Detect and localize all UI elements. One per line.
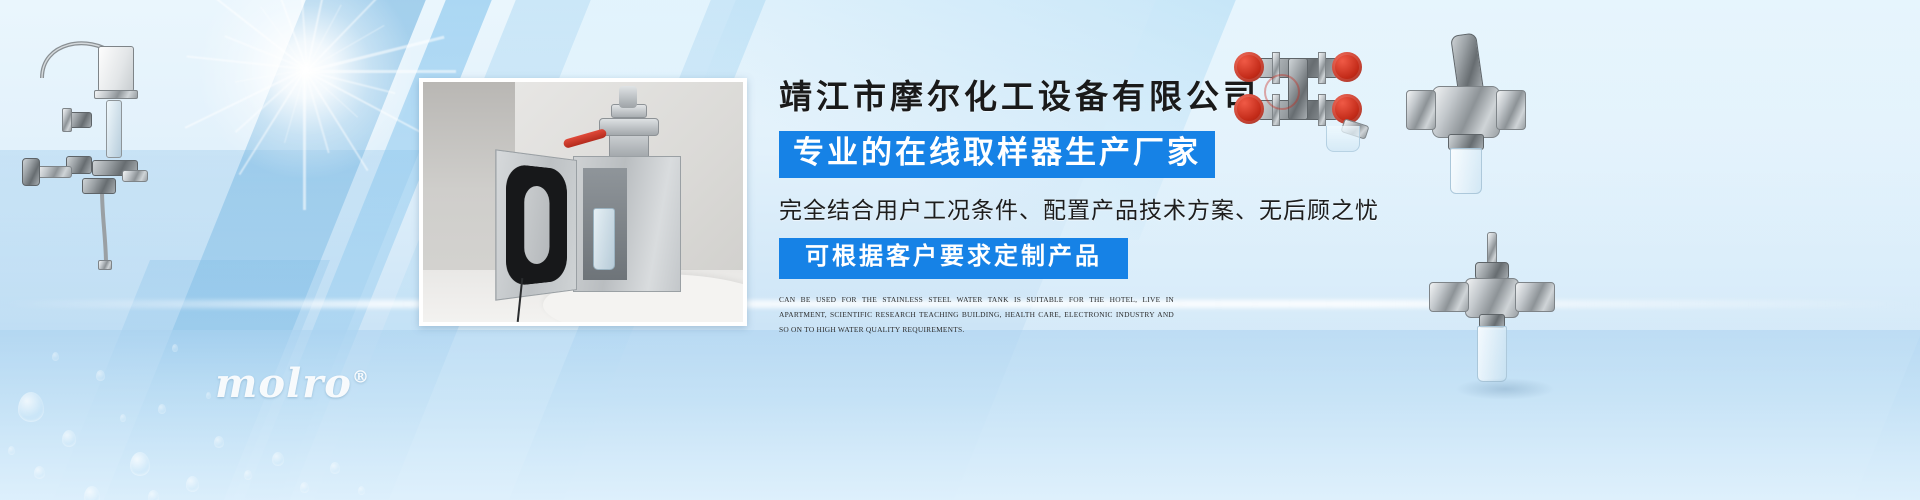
bottom-gradient-band — [0, 330, 1920, 500]
watermark-registered-mark: ® — [352, 368, 370, 388]
red-handwheel-3 — [1234, 94, 1264, 124]
sampler-body — [1432, 86, 1500, 138]
watermark-text: molro — [215, 360, 352, 407]
valve-stem-top — [1487, 232, 1497, 266]
sample-container — [1477, 326, 1507, 382]
subline-text: 完全结合用户工况条件、配置产品技术方案、无后顾之忧 — [779, 191, 1399, 225]
english-description: CAN BE USED FOR THE STAINLESS STEEL WATE… — [779, 292, 1174, 338]
sensor-housing — [98, 46, 134, 92]
outlet-flange — [1515, 282, 1555, 312]
red-handwheel-1 — [1234, 52, 1264, 82]
probe-tip — [98, 260, 112, 270]
tagline-custom-badge: 可根据客户要求定制产品 — [779, 238, 1128, 279]
inlet-pipe — [36, 166, 72, 178]
sun-ray — [303, 70, 306, 210]
photo-valve-body — [599, 118, 659, 136]
side-flange-right — [1496, 90, 1526, 130]
water-droplet — [8, 446, 15, 455]
photo-valve-stem — [619, 86, 637, 108]
water-droplet — [148, 490, 159, 500]
sun-ray — [306, 70, 456, 73]
water-droplet — [214, 436, 224, 448]
watermark-logo: molro® — [215, 360, 370, 407]
water-droplet — [62, 430, 76, 447]
side-flange-left — [1406, 90, 1436, 130]
water-droplet — [52, 352, 59, 361]
left-product-sampling-valve-assembly — [10, 20, 170, 280]
housing-flange — [94, 90, 138, 99]
valve-stem-1 — [62, 108, 72, 132]
right-product-inline-sampler-valve — [1425, 228, 1575, 408]
photo-sample-bottle — [593, 208, 615, 270]
water-droplet — [206, 392, 211, 399]
collection-bottle — [1450, 148, 1482, 194]
red-handwheel-2 — [1332, 52, 1362, 82]
company-seal-icon — [1264, 74, 1300, 110]
water-droplet — [96, 370, 105, 381]
water-droplet — [330, 462, 340, 474]
right-product-cross-valve-manifold — [1218, 30, 1378, 150]
photo-door-panel — [524, 185, 549, 265]
valve-main-body — [1465, 278, 1519, 318]
promo-banner: 靖江市摩尔化工设备有限公司 专业的在线取样器生产厂家 完全结合用户工况条件、配置… — [0, 0, 1920, 500]
lower-fitting — [82, 178, 116, 194]
photo-door-gasket — [506, 163, 567, 287]
sample-beaker — [1326, 126, 1360, 152]
water-droplet — [120, 414, 126, 422]
water-droplet — [130, 452, 150, 476]
water-droplet — [272, 452, 284, 466]
water-droplet — [18, 392, 44, 422]
water-droplet — [358, 486, 365, 495]
water-droplet — [244, 470, 252, 480]
tagline-main-badge: 专业的在线取样器生产厂家 — [779, 131, 1215, 178]
right-product-flanged-sampler — [1400, 28, 1530, 208]
outlet-pipe — [122, 170, 148, 182]
end-valve — [22, 158, 40, 186]
water-droplet — [158, 404, 166, 414]
water-droplet — [186, 476, 199, 492]
product-photo-online-sampler — [419, 78, 747, 326]
tube-path-icon — [10, 20, 170, 280]
inlet-flange — [1429, 282, 1469, 312]
manifold-flange-b — [1318, 52, 1326, 84]
water-droplet — [300, 482, 309, 493]
glass-sight-tube — [106, 100, 122, 158]
water-droplet — [172, 344, 178, 352]
water-droplet — [34, 466, 45, 479]
manifold-flange-d — [1318, 94, 1326, 126]
product-shadow — [1455, 378, 1555, 400]
lever-handle — [1450, 32, 1484, 93]
photo-cabinet-door — [495, 149, 577, 301]
